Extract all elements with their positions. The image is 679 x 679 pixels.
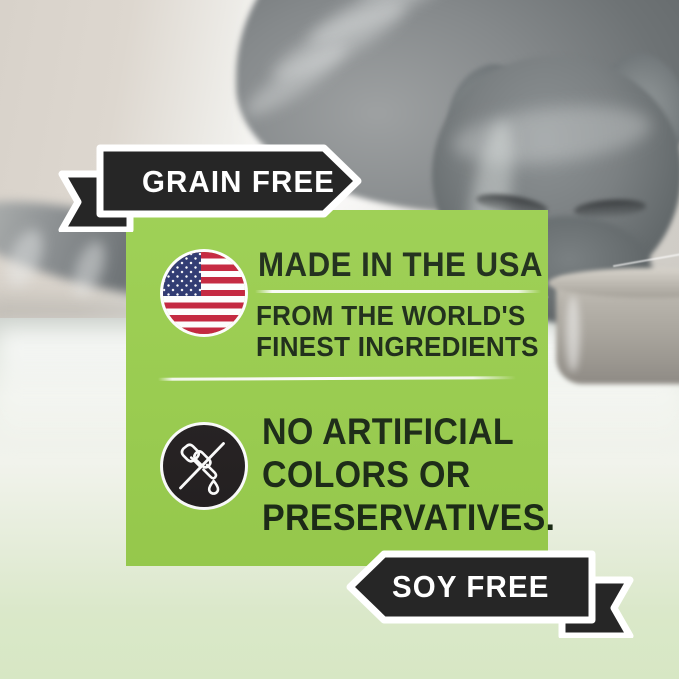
usa-flag-icon [163,252,245,334]
advertisement-image: MADE IN THE USA FROM THE WORLD'S FINEST … [0,0,679,679]
made-in-usa-subtext: FROM THE WORLD'S FINEST INGREDIENTS [256,300,535,362]
no-artificial-line-2: COLORS OR [262,453,538,496]
headline-underline [255,290,541,293]
flag-stars [163,252,201,296]
grain-free-banner: GRAIN FREE [58,142,368,232]
made-in-usa-headline: MADE IN THE USA [258,246,519,284]
dropper-slash-glyph [163,425,245,507]
soy-free-banner: SOY FREE [344,548,634,638]
flag-canton [163,252,201,296]
soy-free-label: SOY FREE [392,569,550,605]
grain-free-label: GRAIN FREE [142,164,335,200]
no-dropper-icon [163,425,245,507]
made-in-usa-text-block: MADE IN THE USA [258,246,542,284]
no-artificial-line-1: NO ARTIFICIAL [262,410,538,453]
section-divider [158,376,516,381]
subtext-line-2: FINEST INGREDIENTS [256,331,535,362]
food-bowl-highlight [566,296,580,372]
subtext-line-1: FROM THE WORLD'S [256,300,535,331]
feature-panel: MADE IN THE USA FROM THE WORLD'S FINEST … [126,210,548,566]
no-artificial-line-3: PRESERVATIVES. [262,496,538,539]
no-artificial-text-block: NO ARTIFICIAL COLORS OR PRESERVATIVES. [262,410,538,539]
